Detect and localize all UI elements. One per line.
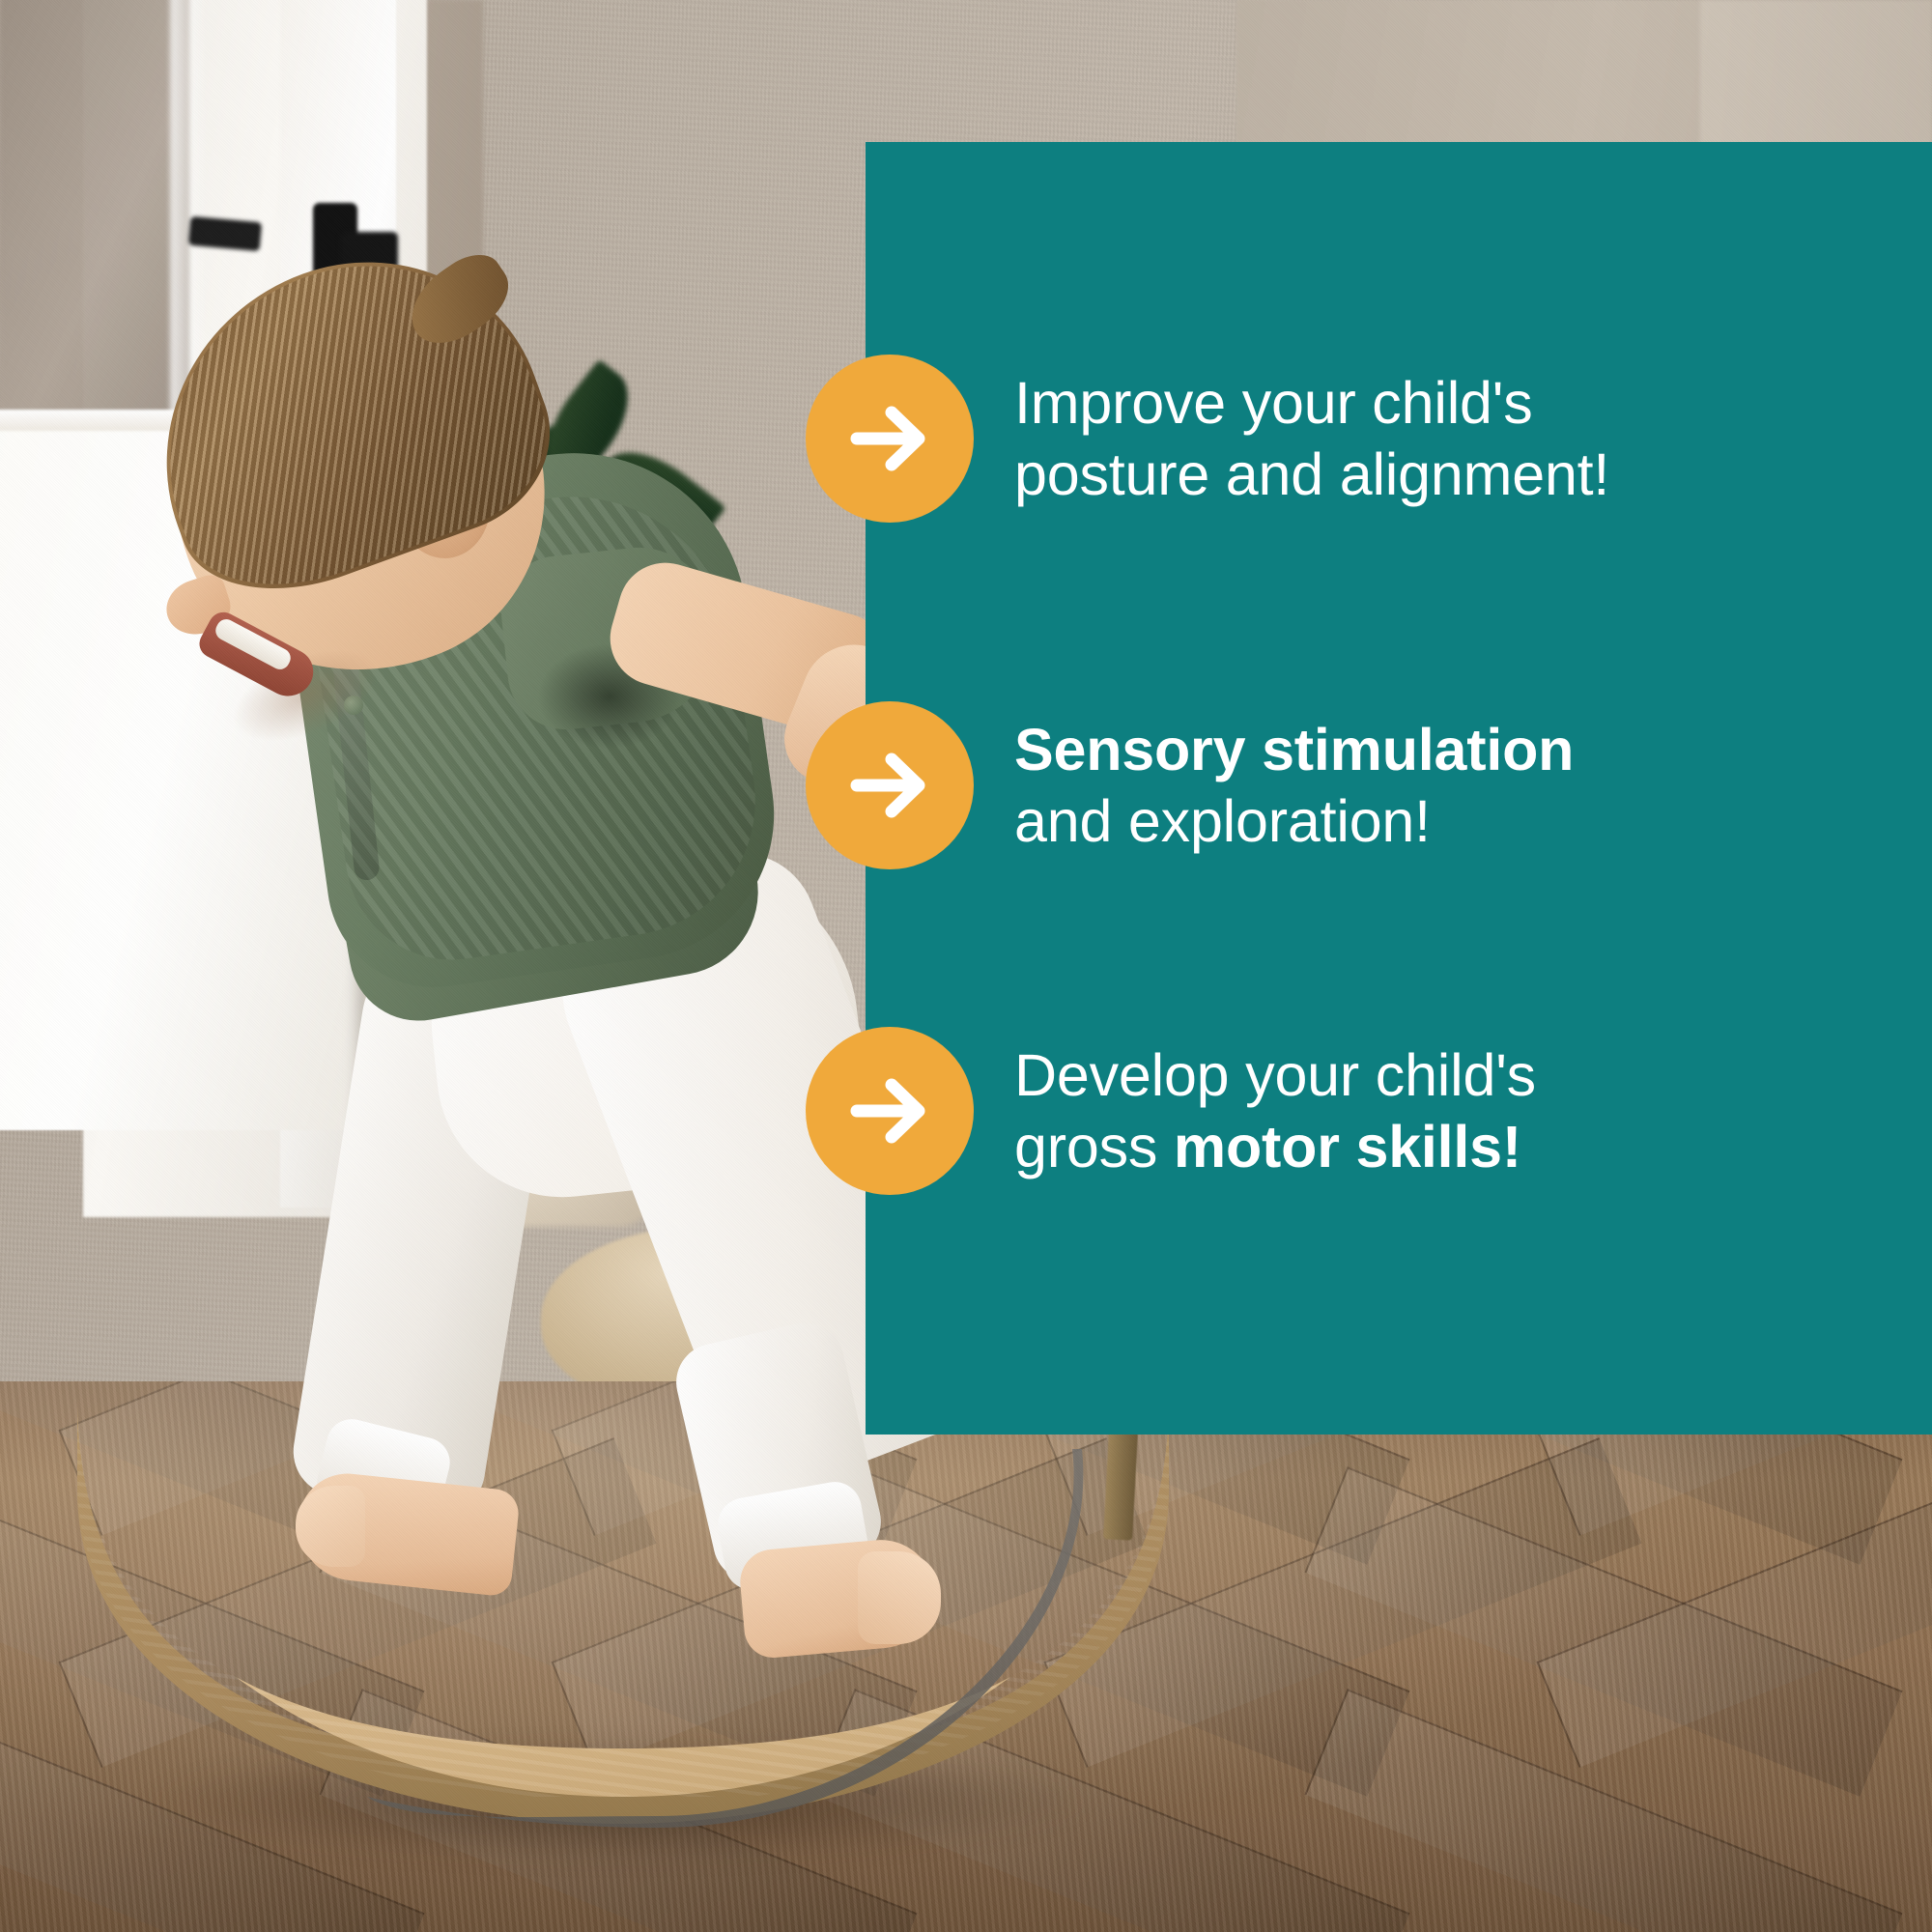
benefit-text-posture: Improve your child'sposture and alignmen… — [1014, 367, 1609, 511]
benefit-line: posture and alignment! — [1014, 441, 1609, 507]
child-back-toes — [296, 1486, 365, 1567]
benefit-line-bold: motor skills! — [1174, 1114, 1521, 1179]
benefit-item-sensory: Sensory stimulationand exploration! — [806, 701, 1932, 869]
child-front-toes — [858, 1551, 941, 1644]
benefit-line: and exploration! — [1014, 788, 1431, 854]
arrow-right-icon — [806, 1027, 974, 1195]
benefit-line: Develop your child's — [1014, 1042, 1536, 1108]
benefit-text-motor-skills: Develop your child'sgross motor skills! — [1014, 1039, 1536, 1183]
arrow-right-icon — [806, 355, 974, 523]
benefits-list: Improve your child'sposture and alignmen… — [866, 142, 1932, 1435]
benefit-item-motor-skills: Develop your child'sgross motor skills! — [806, 1027, 1932, 1195]
benefit-line-bold: Sensory stimulation — [1014, 717, 1574, 782]
benefit-line: Improve your child's — [1014, 370, 1533, 436]
arrow-right-icon — [806, 701, 974, 869]
benefit-text-sensory: Sensory stimulationand exploration! — [1014, 714, 1574, 858]
benefit-item-posture: Improve your child'sposture and alignmen… — [806, 355, 1932, 523]
door-handle-bar — [188, 216, 262, 251]
promo-graphic: Improve your child'sposture and alignmen… — [0, 0, 1932, 1932]
benefit-line: gross — [1014, 1114, 1174, 1179]
